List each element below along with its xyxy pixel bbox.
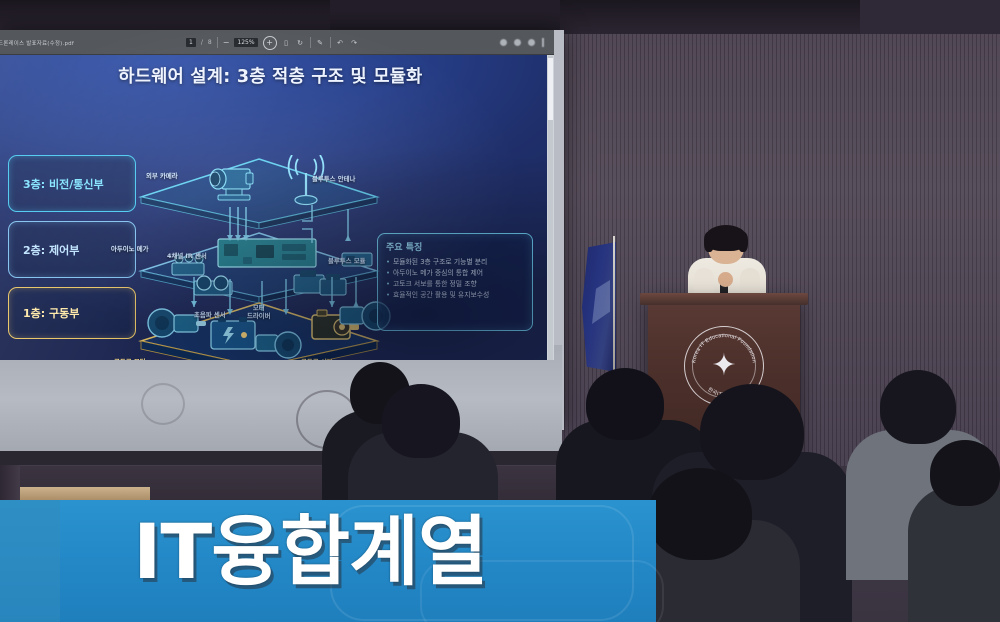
speaker-hair-left xyxy=(704,232,714,252)
label-torque-servo-steering: 고토크 서보 조향 모듈 xyxy=(301,358,333,360)
rotate-icon[interactable]: ↻ xyxy=(296,38,305,47)
redo-icon[interactable]: ↷ xyxy=(350,38,359,47)
page-separator: / xyxy=(201,39,203,46)
torque-motor-front-graphic xyxy=(252,323,308,360)
feature-item-3: 고토크 서보를 통한 정밀 조향 xyxy=(386,279,524,290)
audience-head xyxy=(648,468,752,560)
layer3-platform-graphic xyxy=(134,151,384,229)
layer-2-label: 2층: 제어부 xyxy=(23,242,79,258)
audience-head xyxy=(930,440,1000,506)
connection-arrows xyxy=(134,151,394,351)
speaker-hand xyxy=(718,272,733,287)
label-motor-driver-line1: 모터 xyxy=(253,304,265,312)
undo-icon[interactable]: ↶ xyxy=(336,38,345,47)
feature-item-1: 모듈화된 3층 구조로 기능별 분리 xyxy=(386,257,524,268)
torque-servo-steering-module-graphic xyxy=(306,305,364,349)
download-icon[interactable] xyxy=(514,39,521,46)
page-total: 8 xyxy=(208,39,212,46)
screenshot-root: 드론레이스 발표자료(수정).pdf 1 / 8 − 125% + ▯ ↻ ✎ … xyxy=(0,0,1000,622)
bluetooth-antenna-graphic xyxy=(280,155,332,209)
audience-head xyxy=(880,370,956,444)
podium-top-surface xyxy=(640,293,808,305)
torque-motor-left-graphic xyxy=(146,299,208,347)
page-number-input[interactable]: 1 xyxy=(186,38,196,47)
pdf-viewer-window: 드론레이스 발표자료(수정).pdf 1 / 8 − 125% + ▯ ↻ ✎ … xyxy=(0,30,554,360)
pdf-toolbar[interactable]: 드론레이스 발표자료(수정).pdf 1 / 8 − 125% + ▯ ↻ ✎ … xyxy=(0,30,554,55)
audience-head xyxy=(700,384,804,480)
label-motor-driver: 모터 드라이버 xyxy=(247,304,271,320)
feature-item-4: 효율적인 공간 활용 및 유지보수성 xyxy=(386,290,524,301)
slide-title: 하드웨어 설계: 3층 적층 구조 및 모듈화 xyxy=(0,63,547,88)
label-servo-line1: 고토크 서보 xyxy=(301,358,333,360)
toolbar-divider xyxy=(217,37,218,48)
layer-box-3: 3층: 비전/통신부 xyxy=(8,155,136,212)
arduino-mega-board-graphic xyxy=(216,233,320,275)
slide-canvas: 하드웨어 설계: 3층 적층 구조 및 모듈화 xyxy=(0,55,547,360)
camera-graphic xyxy=(204,159,266,207)
print-icon[interactable] xyxy=(500,39,507,46)
feature-item-2: 아두이노 메가 중심의 통합 제어 xyxy=(386,268,524,279)
emblem-glyph-icon: ✦ xyxy=(711,351,736,381)
pdf-scrollbar-thumb[interactable] xyxy=(548,58,553,120)
label-torque-motor: 고토크 모터 xyxy=(114,358,146,360)
bluetooth-module-graphic xyxy=(338,245,378,275)
label-ir-sensor: 4채널 IR 센서 xyxy=(167,252,207,260)
layer-1-label: 1층: 구동부 xyxy=(23,305,79,321)
layer1-platform-graphic xyxy=(134,295,384,360)
zoom-in-button[interactable]: + xyxy=(263,36,277,50)
toolbar-divider-3 xyxy=(330,37,331,48)
torque-motor-right-graphic xyxy=(338,293,394,339)
ceiling-panel xyxy=(330,0,560,34)
ceiling-panel-right xyxy=(860,0,1000,34)
label-bluetooth-antenna: 블루투스 안테나 xyxy=(312,175,355,183)
front-desk-left xyxy=(20,487,150,501)
motor-driver-graphic xyxy=(290,265,352,303)
zoom-out-button[interactable]: − xyxy=(223,39,230,47)
key-features-box: 주요 특징 모듈화된 3층 구조로 기능별 분리 아두이노 메가 중심의 통합 … xyxy=(377,233,533,331)
pdf-filename: 드론레이스 발표자료(수정).pdf xyxy=(0,39,74,47)
label-arduino-mega: 아두이노 메가 xyxy=(111,245,149,253)
screen-smudge-faint xyxy=(141,383,185,425)
layer2-platform-graphic xyxy=(134,225,384,303)
banner-title: IT융합계열 xyxy=(0,508,620,595)
zoom-level-value[interactable]: 125% xyxy=(234,38,257,47)
audience-shoulders xyxy=(908,486,1000,622)
label-motor-driver-line2: 드라이버 xyxy=(247,312,271,320)
label-bluetooth-module: 블루투스 모듈 xyxy=(328,257,366,265)
key-features-list: 모듈화된 3층 구조로 기능별 분리 아두이노 메가 중심의 통합 제어 고토크… xyxy=(386,257,524,301)
annotate-icon[interactable]: ✎ xyxy=(316,38,325,47)
layer-3-label: 3층: 비전/통신부 xyxy=(23,176,104,192)
flag-pole xyxy=(613,236,615,386)
key-features-heading: 주요 특징 xyxy=(386,240,524,253)
label-external-camera: 외부 카메라 xyxy=(146,172,178,180)
fit-page-icon[interactable]: ▯ xyxy=(282,38,291,47)
more-options-icon[interactable] xyxy=(542,38,544,47)
settings-icon[interactable] xyxy=(528,39,535,46)
toolbar-divider-2 xyxy=(310,37,311,48)
audience-head xyxy=(586,368,664,440)
audience-head xyxy=(382,384,460,458)
ultrasonic-sensor-graphic xyxy=(190,269,238,303)
layer-box-1: 1층: 구동부 xyxy=(8,287,136,339)
pdf-toolbar-center-controls[interactable]: 1 / 8 − 125% + ▯ ↻ ✎ ↶ ↷ xyxy=(186,30,359,55)
label-ultrasonic-sensor: 초음파 센서 xyxy=(194,311,226,319)
pdf-toolbar-right-controls[interactable] xyxy=(500,30,544,55)
battery-pack-graphic xyxy=(206,313,262,357)
speaker-hair-right xyxy=(738,232,748,252)
layer-box-2: 2층: 제어부 xyxy=(8,221,136,278)
ir-sensor-module-graphic xyxy=(166,249,212,289)
